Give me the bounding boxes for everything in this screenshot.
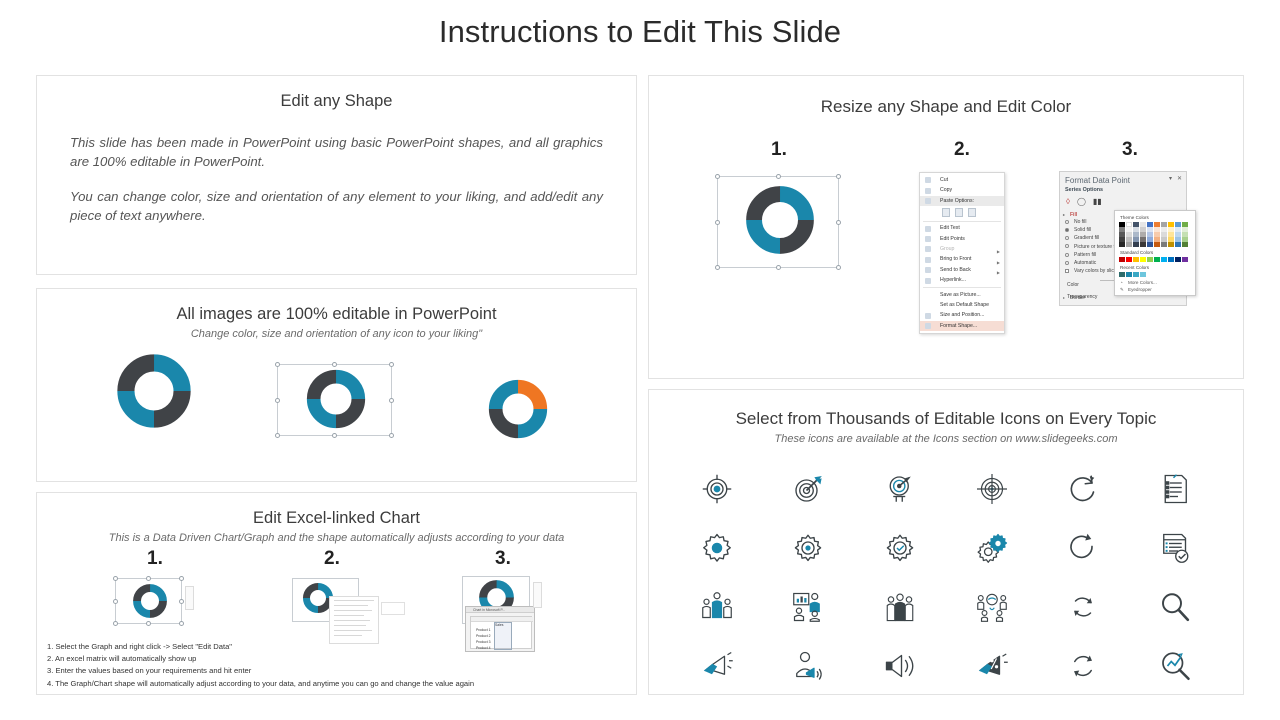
panel-subtitle-images: Change color, size and orientation of an… [37,328,636,340]
swatch[interactable] [1154,257,1160,262]
swatch[interactable] [1126,242,1132,247]
refresh-arrow-icon[interactable] [1063,469,1103,509]
swatch[interactable] [1147,242,1153,247]
more-colors-menu-item[interactable]: ◔ More Colors... [1119,280,1191,285]
excel-step-row: 1. 2. [37,546,636,654]
double-gears-icon[interactable] [972,528,1012,568]
cut-icon [925,177,931,183]
format-pane-title: Format Data Point [1060,172,1186,187]
radio-icon-selected [1065,228,1069,232]
gear-outline-icon[interactable] [788,528,828,568]
excel-step-number-3: 3. [495,548,511,570]
resize-handle-e[interactable] [389,398,394,403]
format-data-point-pane[interactable]: Format Data Point ▾ ✕ Series Options ◊ ◯… [1059,171,1187,306]
resize-handle-sw[interactable] [715,265,720,270]
context-menu-item-send-to-back[interactable]: Send to Back▶ [920,265,1004,275]
radio-icon [1065,220,1069,224]
edit-shape-paragraph-2: You can change color, size and orientati… [70,187,603,225]
swatch[interactable] [1126,272,1132,277]
resize-handle-w[interactable] [113,599,118,604]
minimize-icon[interactable]: ▾ [1169,175,1172,182]
speaker-announce-icon[interactable] [880,646,920,686]
resize-handle-n[interactable] [146,576,151,581]
resize-step-number-3: 3. [1122,139,1138,161]
paste-option-icons[interactable] [920,206,1004,219]
magnifier-icon[interactable] [1155,587,1195,627]
effects-tab-icon[interactable]: ◯ [1077,197,1086,206]
swatch[interactable] [1175,257,1181,262]
excel-instruction-3: 3. Enter the values based on your requir… [47,665,633,677]
fill-line-tab-icon[interactable]: ◊ [1066,197,1070,206]
panel-title-icons: Select from Thousands of Editable Icons … [649,409,1243,429]
swatch[interactable] [1133,242,1139,247]
border-section-label[interactable]: Border [1060,295,1085,301]
standard-colors-label: Standard Colors [1120,250,1191,255]
resize-handle-se[interactable] [836,265,841,270]
swatch[interactable] [1140,272,1146,277]
person-megaphone-icon[interactable] [788,646,828,686]
excel-step1-donut [132,583,168,619]
swatch[interactable] [1126,257,1132,262]
swatch[interactable] [1161,242,1167,247]
panel-title-edit-shape: Edit any Shape [37,92,636,111]
panel-resize-shape-edit-color: Resize any Shape and Edit Color 1. [648,75,1244,379]
radio-icon [1065,236,1069,240]
panel-subtitle-icons: These icons are available at the Icons s… [649,433,1243,445]
resize-handle-ne[interactable] [179,576,184,581]
swatch[interactable] [1140,257,1146,262]
context-menu-separator [923,287,1001,288]
donut-chart-selected[interactable] [305,368,367,430]
edit-points-icon [925,236,931,242]
crosshair-scope-icon[interactable] [972,469,1012,509]
swatch[interactable] [1161,257,1167,262]
resize-handle-nw[interactable] [275,362,280,367]
resize-step-number-1: 1. [771,139,787,161]
theme-colors-label: Theme Colors [1120,215,1191,220]
panel-title-images: All images are 100% editable in PowerPoi… [37,305,636,324]
context-menu-item-hyperlink[interactable]: Hyperlink... [920,275,1004,285]
edit-text-icon [925,226,931,232]
excel-instruction-2: 2. An excel matrix will automatically sh… [47,653,633,665]
panel-all-images-editable: All images are 100% editable in PowerPoi… [36,288,637,482]
swatch[interactable] [1119,272,1125,277]
theme-shade-row[interactable] [1119,242,1191,247]
excel-step2-submenu[interactable] [381,602,405,615]
edit-shape-body: This slide has been made in PowerPoint u… [37,111,636,226]
context-menu-item-cut[interactable]: Cut [920,175,1004,185]
excel-step2-context-menu[interactable] [329,596,379,644]
radio-icon [1065,253,1069,257]
resize-step-number-2: 2. [954,139,970,161]
swatch[interactable] [1182,257,1188,262]
excel-row-2: Product 2 [476,634,491,638]
context-menu-item-paste-options[interactable]: Paste Options: [920,196,1004,206]
resize-handle-e[interactable] [836,220,841,225]
megaphone-percent-icon[interactable] [972,646,1012,686]
resize-handle-n[interactable] [776,174,781,179]
recent-colors-row[interactable] [1119,272,1191,277]
radio-icon [1065,244,1069,248]
copy-icon [925,188,931,194]
group-people-icon[interactable] [880,587,920,627]
swatch[interactable] [1168,242,1174,247]
resize-handle-s[interactable] [146,621,151,626]
swatch[interactable] [1168,257,1174,262]
excel-row-1: Product 1 [476,628,491,632]
sync-arrows-icon[interactable] [1063,587,1103,627]
paste-text-only-icon[interactable] [968,208,976,217]
images-donut-row [37,348,636,468]
context-menu-item-copy[interactable]: Copy [920,185,1004,195]
resize-handle-n[interactable] [332,362,337,367]
bring-to-front-icon [925,257,931,263]
resize-step-row: 1. 2. Cut Copy Past [649,139,1243,339]
swatch[interactable] [1175,242,1181,247]
magnifier-chart-icon[interactable] [1155,646,1195,686]
context-menu-item-set-default-shape[interactable]: Set as Default Shape [920,300,1004,310]
resize-handle-se[interactable] [389,433,394,438]
panel-editable-icons: Select from Thousands of Editable Icons … [648,389,1244,695]
target-stand-icon[interactable] [880,469,920,509]
radio-icon [1065,261,1069,265]
panel-edit-any-shape: Edit any Shape This slide has been made … [36,75,637,275]
resize-handle-s[interactable] [776,265,781,270]
excel-window-titlebar: Chart in Microsoft P... [466,607,534,613]
paste-picture-icon[interactable] [955,208,963,217]
resize-handle-se[interactable] [179,621,184,626]
megaphone-icon[interactable] [697,646,737,686]
series-chart-tab-icon[interactable]: ▮▮ [1093,197,1102,206]
group-icon [925,246,931,252]
swatch[interactable] [1133,257,1139,262]
close-icon[interactable]: ✕ [1177,175,1182,182]
gear-check-icon[interactable] [880,528,920,568]
resize-handle-ne[interactable] [389,362,394,367]
target-crosshair-icon[interactable] [697,469,737,509]
resize-handle-w[interactable] [275,398,280,403]
excel-step1-mini-toolbar [185,586,194,610]
team-meeting-icon[interactable] [972,587,1012,627]
resize-handle-nw[interactable] [715,174,720,179]
format-pane-tabs[interactable]: ◊ ◯ ▮▮ [1060,193,1186,209]
donut-chart-large [115,352,193,430]
excel-instruction-list: 1. Select the Graph and right click -> S… [47,641,633,690]
paste-keep-formatting-icon[interactable] [942,208,950,217]
resize-handle-nw[interactable] [113,576,118,581]
swatch[interactable] [1182,242,1188,247]
swatch[interactable] [1140,242,1146,247]
dartboard-arrow-icon[interactable] [788,469,828,509]
resize-handle-s[interactable] [332,433,337,438]
context-menu-item-group: Group▶ [920,244,1004,254]
excel-instruction-1: 1. Select the Graph and right click -> S… [47,641,633,653]
swatch[interactable] [1133,272,1139,277]
context-menu-item-edit-text[interactable]: Edit Text [920,223,1004,233]
format-shape-icon [925,323,931,329]
presentation-team-icon[interactable] [788,587,828,627]
circular-arrow-icon[interactable] [1063,528,1103,568]
panel-subtitle-excel: This is a Data Driven Chart/Graph and th… [37,532,636,544]
icon-grid [671,459,1221,695]
context-menu-item-edit-points[interactable]: Edit Points [920,234,1004,244]
swatch[interactable] [1119,242,1125,247]
checkbox-icon [1065,269,1069,273]
standard-colors-row[interactable] [1119,257,1191,262]
swatch[interactable] [1147,257,1153,262]
context-menu-separator [923,221,1001,222]
paste-icon [925,198,931,204]
gear-filled-icon[interactable] [697,528,737,568]
resize-handle-e[interactable] [179,599,184,604]
people-leader-icon[interactable] [697,587,737,627]
context-menu-item-save-as-picture[interactable]: Save as Picture... [920,290,1004,300]
resize-handle-sw[interactable] [275,433,280,438]
donut-chart-orange-accent [487,378,549,440]
excel-instruction-4: 4. The Graph/Chart shape will automatica… [47,678,633,690]
eyedropper-icon: ✎ [1120,287,1124,293]
panel-edit-excel-chart: Edit Excel-linked Chart This is a Data D… [36,492,637,695]
swatch[interactable] [1119,257,1125,262]
send-to-back-icon [925,267,931,273]
context-menu-item-bring-to-front[interactable]: Bring to Front▶ [920,254,1004,264]
resize-handle-w[interactable] [715,220,720,225]
panel-title-excel: Edit Excel-linked Chart [37,509,636,528]
resize-handle-ne[interactable] [836,174,841,179]
palette-icon: ◔ [1120,280,1123,285]
checklist-document-icon[interactable] [1155,469,1195,509]
excel-step-number-1: 1. [147,548,163,570]
excel-step-number-2: 2. [324,548,340,570]
context-menu-item-size-and-position[interactable]: Size and Position... [920,310,1004,320]
slide-canvas: Instructions to Edit This Slide Edit any… [0,0,1280,720]
resize-handle-sw[interactable] [113,621,118,626]
shape-context-menu[interactable]: Cut Copy Paste Options: Edit Text Edit P… [919,172,1005,334]
size-position-icon [925,313,931,319]
refresh-cycle-icon[interactable] [1063,646,1103,686]
panel-title-resize: Resize any Shape and Edit Color [649,97,1243,117]
page-title: Instructions to Edit This Slide [0,14,1280,50]
excel-step3-mini-toolbar [533,582,542,608]
eyedropper-menu-item[interactable]: ✎ Eyedropper [1119,287,1191,292]
swatch[interactable] [1154,242,1160,247]
edit-shape-paragraph-1: This slide has been made in PowerPoint u… [70,133,603,171]
resize-step1-donut[interactable] [744,184,816,256]
context-menu-item-format-shape[interactable]: Format Shape... [920,321,1004,331]
document-check-icon[interactable] [1155,528,1195,568]
recent-colors-label: Recent Colors [1120,265,1191,270]
hyperlink-icon [925,278,931,284]
color-picker-popup[interactable]: Theme Colors [1114,210,1196,296]
